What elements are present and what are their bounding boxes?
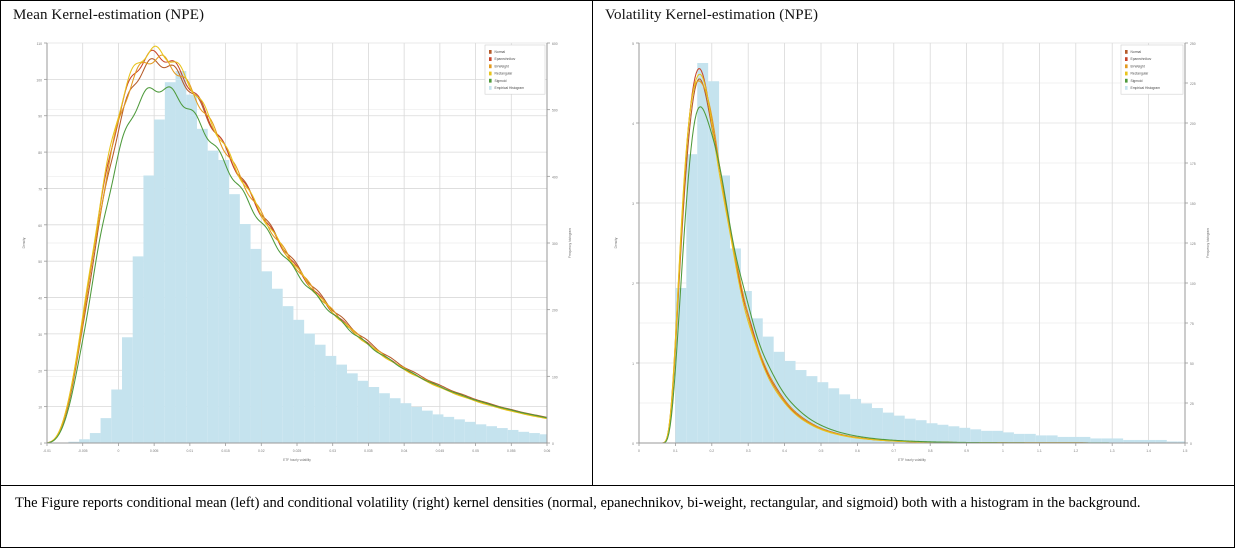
y-tick-label: 50 [38, 260, 42, 264]
x-tick-label: 0.055 [507, 449, 516, 453]
y-tick-label: 90 [38, 115, 42, 119]
x-axis-title: ETF hourly volatility [898, 458, 926, 462]
legend-swatch [1125, 50, 1128, 54]
x-tick-label: 1.1 [1037, 449, 1042, 453]
charts-row: Mean Kernel-estimation (NPE) -0.01-0.005… [1, 1, 1234, 485]
x-tick-label: 1.5 [1183, 449, 1188, 453]
x-axis-title: ETF hourly volatility [283, 458, 311, 462]
y-tick-label: 80 [38, 151, 42, 155]
y-axis-ticks: 012345 [632, 42, 639, 446]
x-tick-label: 0.045 [436, 449, 445, 453]
y2-tick-label: 100 [1190, 282, 1196, 286]
legend-swatch [489, 64, 492, 68]
y2-tick-label: 400 [552, 175, 558, 179]
y-tick-label: 4 [632, 122, 634, 126]
x-tick-label: 0.04 [401, 449, 408, 453]
y2-tick-label: 100 [552, 375, 558, 379]
legend-label: Empirical Histogram [1131, 86, 1161, 90]
legend-swatch [1125, 57, 1128, 61]
legend-swatch [489, 57, 492, 61]
chart-svg-mean[interactable]: -0.01-0.00500.0050.010.0150.020.0250.030… [1, 1, 593, 485]
y2-tick-label: 75 [1190, 322, 1194, 326]
legend-swatch [1125, 86, 1128, 90]
legend-label: Rectangular [495, 72, 514, 76]
chart-cell-volatility: Volatility Kernel-estimation (NPE) 00.10… [593, 1, 1233, 485]
x-tick-label: -0.005 [78, 449, 88, 453]
legend-swatch [1125, 64, 1128, 68]
x-tick-label: 0.03 [329, 449, 336, 453]
x-tick-label: 0.015 [221, 449, 230, 453]
legend-label: Empirical Histogram [495, 86, 525, 90]
y2-tick-label: 0 [552, 442, 554, 446]
y-axis-title: Density [614, 237, 618, 248]
x-tick-label: 0.2 [709, 449, 714, 453]
y-tick-label: 70 [38, 187, 42, 191]
y2-tick-label: 125 [1190, 242, 1196, 246]
x-tick-label: 0.06 [544, 449, 551, 453]
legend-swatch [489, 79, 492, 83]
chart-svg-volatility[interactable]: 00.10.20.30.40.50.60.70.80.911.11.21.31.… [593, 1, 1233, 485]
legend-label: Bi-Weight [495, 64, 509, 68]
y-tick-label: 40 [38, 297, 42, 301]
figure-table: Mean Kernel-estimation (NPE) -0.01-0.005… [0, 0, 1235, 548]
x-tick-label: 0.05 [472, 449, 479, 453]
y2-tick-label: 225 [1190, 82, 1196, 86]
legend-label: Bi-Weight [1131, 64, 1145, 68]
x-tick-label: 1.2 [1073, 449, 1078, 453]
legend-swatch [489, 86, 492, 90]
y2-tick-label: 150 [1190, 202, 1196, 206]
x-tick-label: 0.6 [855, 449, 860, 453]
y-axis-ticks: 0102030405060708090100110 [36, 42, 47, 446]
y-tick-label: 0 [632, 442, 634, 446]
x-tick-label: 1.3 [1110, 449, 1115, 453]
legend-label: Epanechnikov [495, 57, 516, 61]
x-tick-label: 0.4 [782, 449, 787, 453]
x-tick-label: 0.01 [187, 449, 194, 453]
x-axis-ticks: 00.10.20.30.40.50.60.70.80.911.11.21.31.… [638, 443, 1187, 453]
y2-tick-label: 250 [1190, 42, 1196, 46]
x-tick-label: 0.035 [364, 449, 373, 453]
y-tick-label: 60 [38, 224, 42, 228]
x-tick-label: -0.01 [43, 449, 51, 453]
legend-label: Sigmoid [1131, 79, 1143, 83]
x-tick-label: 0.1 [673, 449, 678, 453]
y-tick-label: 20 [38, 369, 42, 373]
legend-label: Normal [495, 50, 506, 54]
x-tick-label: 0 [117, 449, 119, 453]
y2-tick-label: 600 [552, 42, 558, 46]
x-tick-label: 0.3 [746, 449, 751, 453]
y-axis-title: Density [22, 237, 26, 248]
x-tick-label: 0.025 [293, 449, 302, 453]
y-tick-label: 2 [632, 282, 634, 286]
y-tick-label: 110 [37, 42, 43, 46]
y2-tick-label: 200 [552, 309, 558, 313]
y2-tick-label: 0 [1190, 442, 1192, 446]
y-tick-label: 5 [632, 42, 634, 46]
y2-tick-label: 300 [552, 242, 558, 246]
chart-cell-mean: Mean Kernel-estimation (NPE) -0.01-0.005… [1, 1, 593, 485]
legend-swatch [489, 50, 492, 54]
y2-tick-label: 175 [1190, 162, 1196, 166]
x-axis-ticks: -0.01-0.00500.0050.010.0150.020.0250.030… [43, 443, 550, 453]
x-tick-label: 0.8 [928, 449, 933, 453]
y2-axis-ticks: 0100200300400500600 [547, 42, 558, 446]
y2-axis-title: Frequency histogram [568, 228, 572, 258]
x-tick-label: 0.7 [891, 449, 896, 453]
legend-label: Epanechnikov [1131, 57, 1152, 61]
x-tick-label: 0.9 [964, 449, 969, 453]
x-tick-label: 0.5 [819, 449, 824, 453]
y2-axis-ticks: 0255075100125150175200225250 [1185, 42, 1196, 446]
y-tick-label: 100 [36, 78, 42, 82]
y-tick-label: 0 [40, 442, 42, 446]
plot-mean: -0.01-0.00500.0050.010.0150.020.0250.030… [1, 1, 592, 485]
legend-swatch [489, 72, 492, 76]
y2-tick-label: 200 [1190, 122, 1196, 126]
x-tick-label: 0 [638, 449, 640, 453]
legend-label: Rectangular [1131, 72, 1150, 76]
figure-caption: The Figure reports conditional mean (lef… [1, 485, 1234, 547]
x-tick-label: 0.005 [150, 449, 159, 453]
x-tick-label: 1 [1002, 449, 1004, 453]
y-tick-label: 1 [632, 362, 634, 366]
legend-label: Sigmoid [495, 79, 507, 83]
y-tick-label: 10 [38, 406, 42, 410]
plot-volatility: 00.10.20.30.40.50.60.70.80.911.11.21.31.… [593, 1, 1233, 485]
x-tick-label: 1.4 [1146, 449, 1151, 453]
y2-axis-title: Frequency histogram [1206, 228, 1210, 258]
x-tick-label: 0.02 [258, 449, 265, 453]
y2-tick-label: 50 [1190, 362, 1194, 366]
legend-label: Normal [1131, 50, 1142, 54]
y-tick-label: 30 [38, 333, 42, 337]
y2-tick-label: 25 [1190, 402, 1194, 406]
legend-swatch [1125, 79, 1128, 83]
legend-swatch [1125, 72, 1128, 76]
figure-caption-text: The Figure reports conditional mean (lef… [15, 495, 1141, 511]
chart-legend[interactable]: NormalEpanechnikovBi-WeightRectangularSi… [1121, 45, 1183, 94]
y-tick-label: 3 [632, 202, 634, 206]
y2-tick-label: 500 [552, 109, 558, 113]
chart-legend[interactable]: NormalEpanechnikovBi-WeightRectangularSi… [485, 45, 545, 94]
